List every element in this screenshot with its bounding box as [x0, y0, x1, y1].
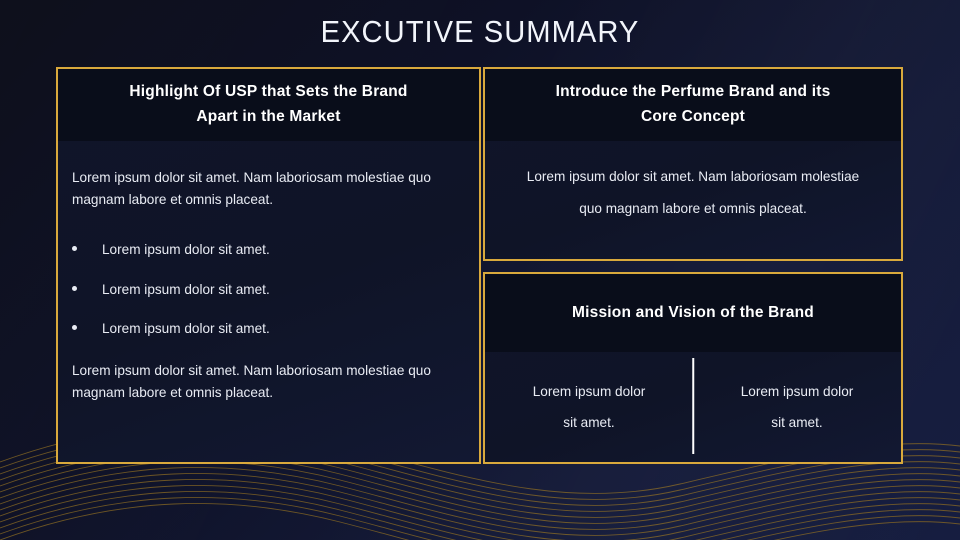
list-item-label: Lorem ipsum dolor sit amet. [102, 242, 270, 257]
introduce-brand-paragraph-line1: Lorem ipsum dolor sit amet. Nam laborios… [527, 169, 859, 184]
bullet-dot-icon [72, 246, 77, 251]
introduce-brand-paragraph-line2: quo magnam labore et omnis placeat. [579, 201, 806, 216]
panel-mission-vision-title: Mission and Vision of the Brand [554, 301, 832, 326]
vision-column-text: Lorem ipsum dolor sit amet. [741, 376, 854, 439]
vision-column: Lorem ipsum dolor sit amet. [693, 352, 901, 462]
panel-introduce-brand-body: Lorem ipsum dolor sit amet. Nam laborios… [485, 141, 901, 225]
mission-column-line1: Lorem ipsum dolor [533, 384, 646, 399]
bullet-dot-icon [72, 325, 77, 330]
panel-highlight-usp-header: Highlight Of USP that Sets the Brand Apa… [58, 69, 479, 141]
panel-introduce-brand: Introduce the Perfume Brand and its Core… [483, 67, 903, 261]
mission-column: Lorem ipsum dolor sit amet. [485, 352, 693, 462]
mission-column-text: Lorem ipsum dolor sit amet. [533, 376, 646, 439]
list-item: Lorem ipsum dolor sit amet. [72, 320, 465, 338]
panel-highlight-usp-title: Highlight Of USP that Sets the Brand Apa… [111, 80, 425, 130]
list-item-label: Lorem ipsum dolor sit amet. [102, 282, 270, 297]
panel-introduce-brand-header: Introduce the Perfume Brand and its Core… [485, 69, 901, 141]
panel-highlight-usp-title-line1: Highlight Of USP that Sets the Brand [129, 83, 407, 100]
panel-mission-vision-header: Mission and Vision of the Brand [485, 274, 901, 352]
page-title: EXCUTIVE SUMMARY [29, 14, 931, 50]
panel-highlight-usp: Highlight Of USP that Sets the Brand Apa… [56, 67, 481, 464]
introduce-brand-paragraph: Lorem ipsum dolor sit amet. Nam laborios… [507, 161, 879, 225]
list-item-label: Lorem ipsum dolor sit amet. [102, 321, 270, 336]
panel-mission-vision-body: Lorem ipsum dolor sit amet. Lorem ipsum … [485, 352, 901, 462]
panel-introduce-brand-title-line1: Introduce the Perfume Brand and its [556, 83, 831, 100]
list-item: Lorem ipsum dolor sit amet. [72, 241, 465, 259]
panel-highlight-usp-body: Lorem ipsum dolor sit amet. Nam laborios… [58, 141, 479, 404]
panel-highlight-usp-title-line2: Apart in the Market [196, 108, 340, 125]
closing-paragraph: Lorem ipsum dolor sit amet. Nam laborios… [72, 360, 465, 404]
mission-column-line2: sit amet. [563, 415, 614, 430]
panel-mission-vision: Mission and Vision of the Brand Lorem ip… [483, 272, 903, 464]
bullet-dot-icon [72, 286, 77, 291]
panel-introduce-brand-title: Introduce the Perfume Brand and its Core… [538, 80, 849, 130]
vision-column-line1: Lorem ipsum dolor [741, 384, 854, 399]
list-item: Lorem ipsum dolor sit amet. [72, 281, 465, 299]
vision-column-line2: sit amet. [771, 415, 822, 430]
panel-introduce-brand-title-line2: Core Concept [641, 108, 745, 125]
slide-canvas: EXCUTIVE SUMMARY Highlight Of USP that S… [0, 0, 960, 540]
intro-paragraph: Lorem ipsum dolor sit amet. Nam laborios… [72, 167, 465, 211]
usp-bullet-list: Lorem ipsum dolor sit amet. Lorem ipsum … [72, 241, 465, 338]
column-divider [692, 358, 694, 454]
